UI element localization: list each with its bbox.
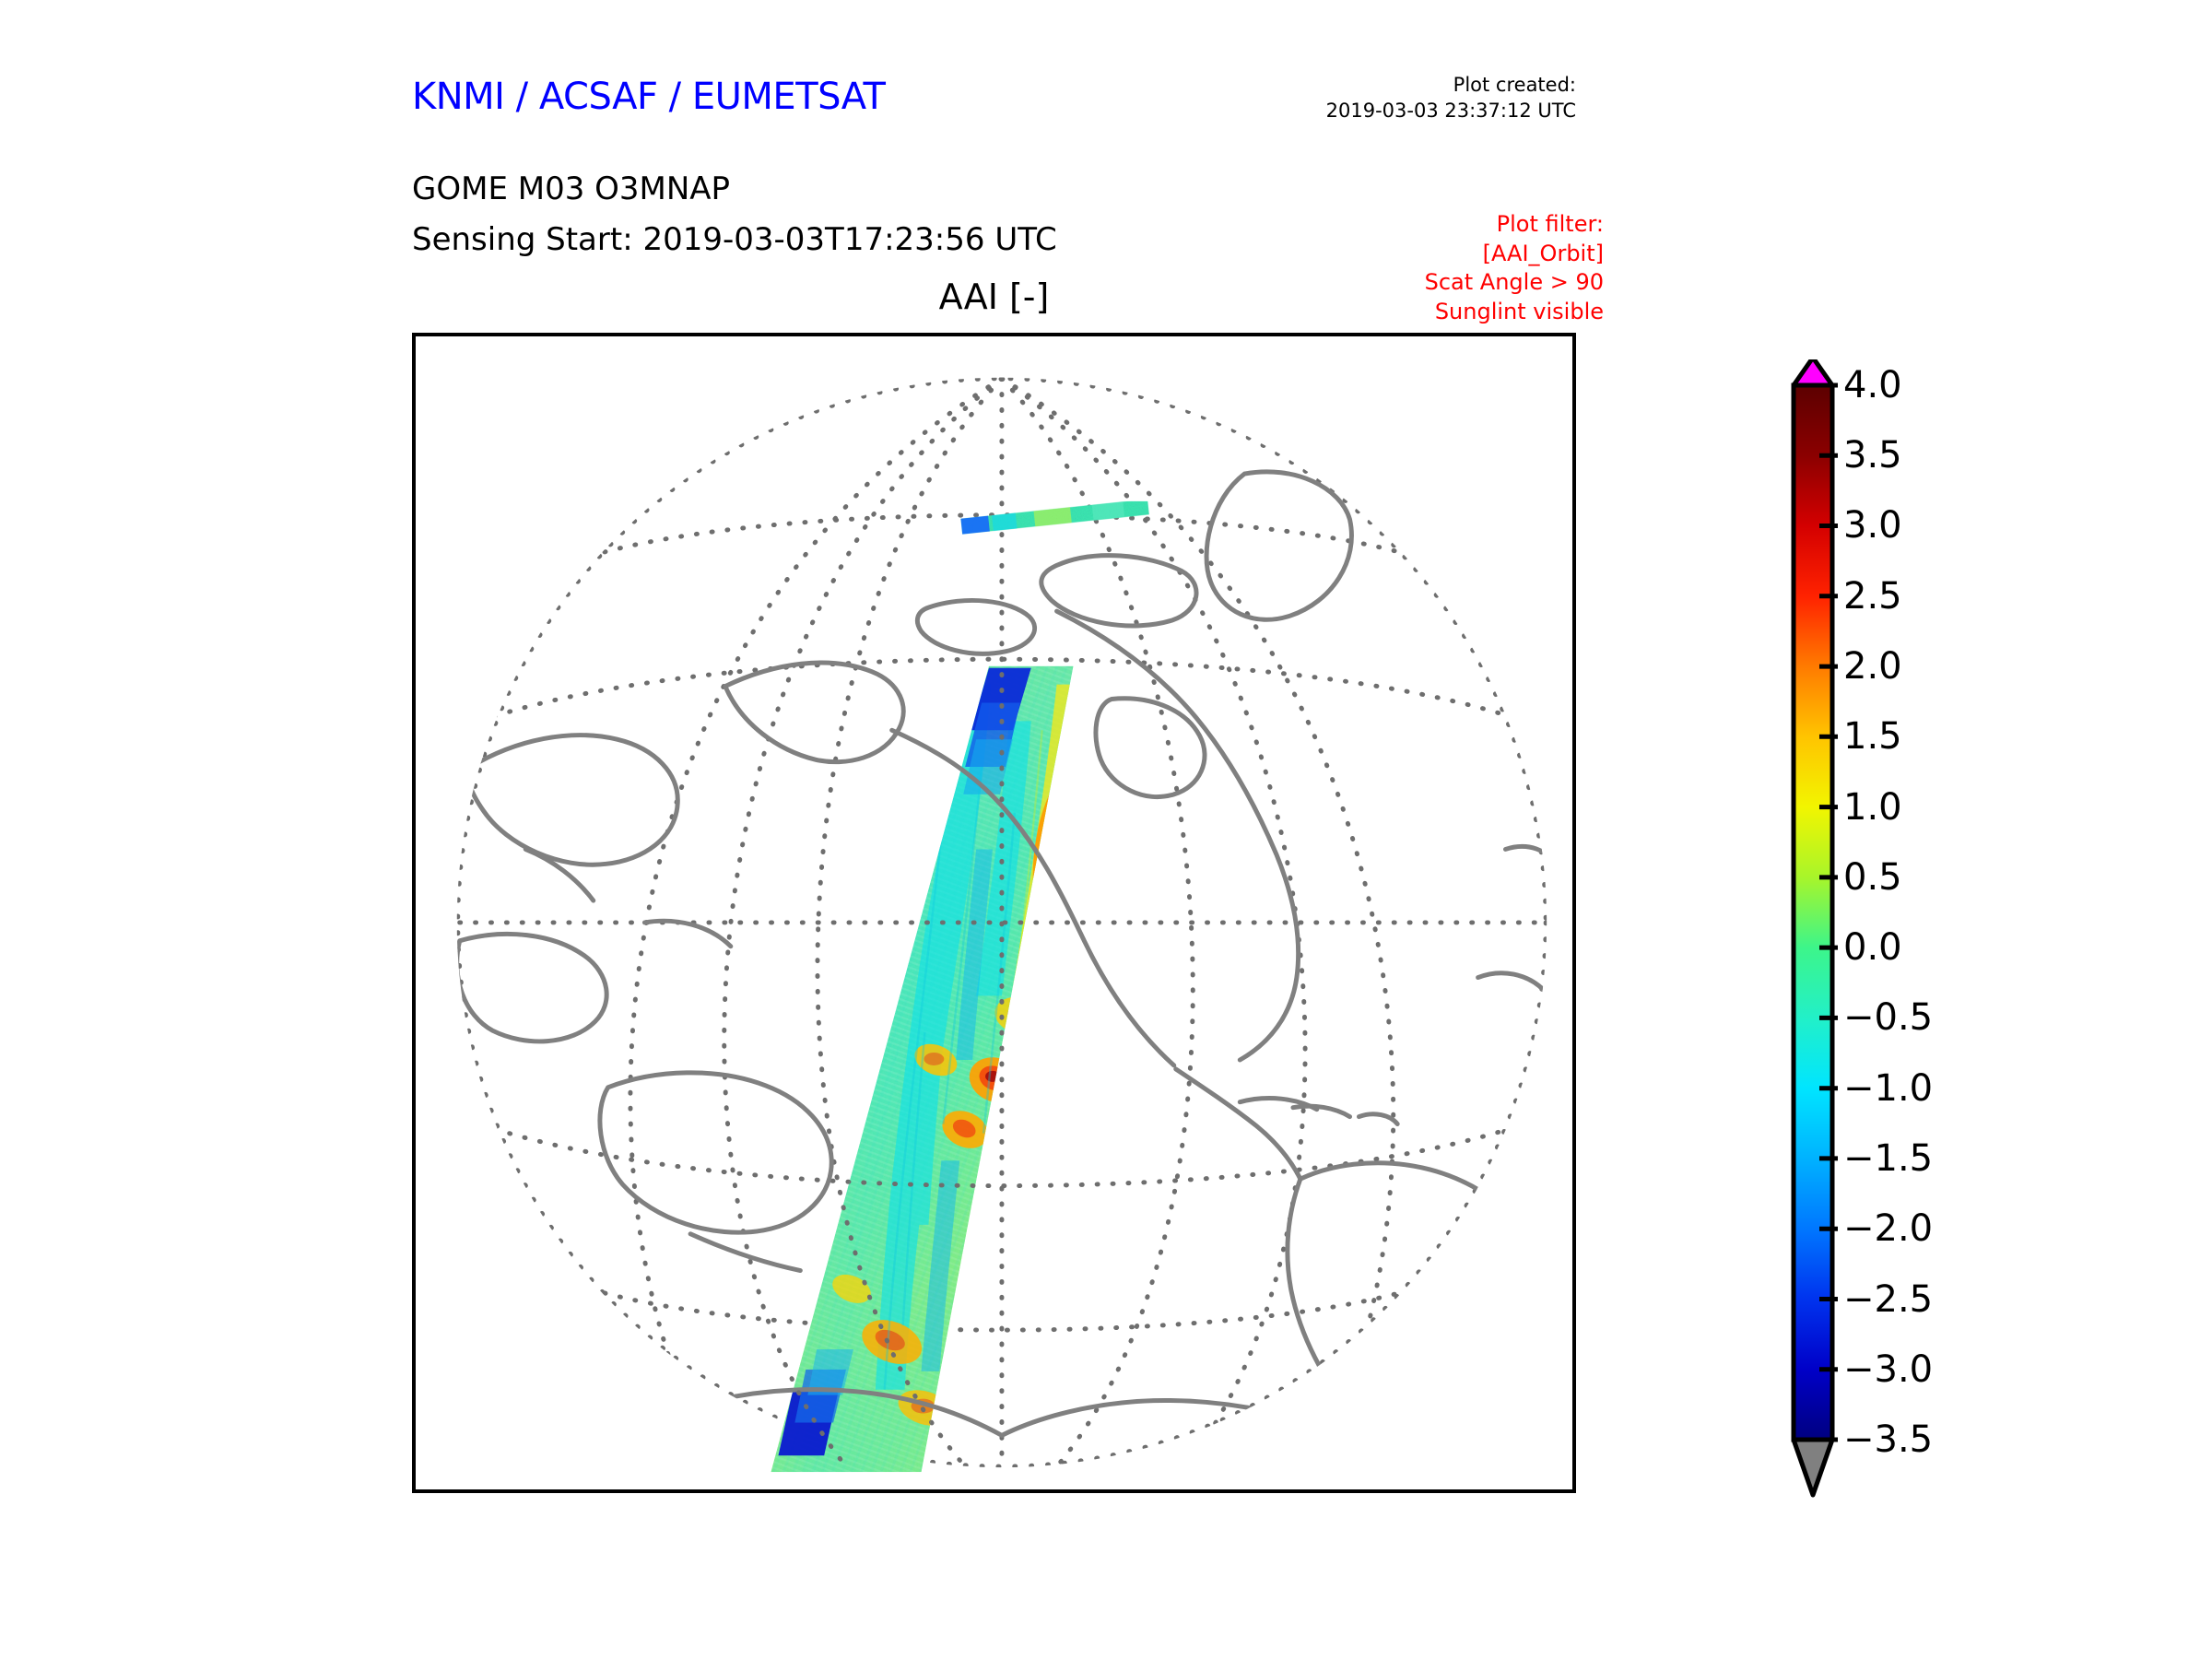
page-title: AAI [-] <box>412 276 1576 317</box>
sensing-start: Sensing Start: 2019-03-03T17:23:56 UTC <box>412 221 1057 258</box>
colorbar-tick-label: 2.5 <box>1843 575 1902 618</box>
colorbar-gradient <box>1794 385 1832 1440</box>
orthographic-map <box>416 336 1572 1489</box>
colorbar-tick-label: 3.0 <box>1843 504 1902 547</box>
colorbar-tick-labels: 4.0 3.5 3.0 2.5 2.0 1.5 1.0 0.5 0.0 −0.5… <box>1843 359 2028 1493</box>
colorbar-tick-label: 1.5 <box>1843 715 1902 758</box>
plot-created-block: Plot created: 2019-03-03 23:37:12 UTC <box>1326 72 1576 124</box>
colorbar-tick-label: 4.0 <box>1843 364 1902 406</box>
colorbar-under-arrow <box>1794 1440 1832 1495</box>
colorbar-tick-label: −1.5 <box>1843 1137 1933 1180</box>
colorbar-tick-label: 2.0 <box>1843 645 1902 688</box>
colorbar-tick-label: −3.0 <box>1843 1348 1933 1391</box>
product-name: GOME M03 O3MNAP <box>412 171 730 207</box>
colorbar-tick-label: −2.0 <box>1843 1207 1933 1250</box>
organisation-title: KNMI / ACSAF / EUMETSAT <box>412 76 885 118</box>
colorbar-tick-label: −2.5 <box>1843 1278 1933 1321</box>
colorbar-tick-label: −3.5 <box>1843 1418 1933 1461</box>
colorbar-tick-label: 0.5 <box>1843 856 1902 899</box>
plot-created-timestamp: 2019-03-03 23:37:12 UTC <box>1326 98 1576 124</box>
colorbar-tick-label: 0.0 <box>1843 926 1902 969</box>
colorbar-over-arrow <box>1794 359 1832 385</box>
colorbar-tick-label: 3.5 <box>1843 434 1902 477</box>
plot-filter-label: Plot filter: <box>1425 210 1604 240</box>
aai-swath <box>460 379 1545 1489</box>
colorbar-tick-label: 1.0 <box>1843 786 1902 829</box>
map-panel <box>412 333 1576 1493</box>
plot-filter-name: [AAI_Orbit] <box>1425 240 1604 269</box>
plot-created-label: Plot created: <box>1326 72 1576 98</box>
colorbar-tick-label: −1.0 <box>1843 1067 1933 1110</box>
colorbar-tick-label: −0.5 <box>1843 996 1933 1039</box>
